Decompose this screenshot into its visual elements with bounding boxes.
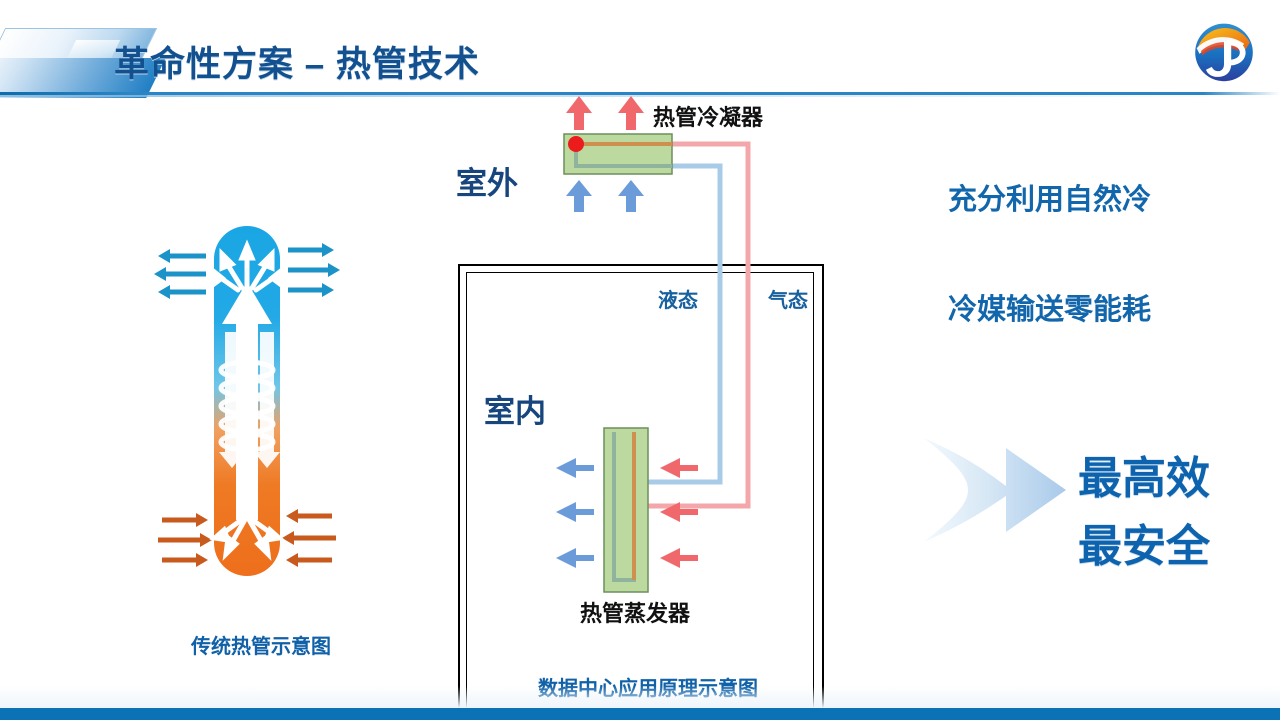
datacenter-principle-diagram: 热管冷凝器 室外 室内 液态 气态 热管蒸发器	[448, 88, 848, 688]
conclusion-most-safe: 最安全	[1078, 510, 1210, 574]
footer-bar	[0, 708, 1280, 720]
benefit-bullet-natural-cooling: 充分利用自然冷	[948, 176, 1151, 218]
outdoor-label: 室外	[456, 158, 518, 203]
evaporator-label: 热管蒸发器	[580, 596, 690, 628]
footer-glow	[0, 686, 1280, 708]
indoor-label: 室内	[484, 386, 546, 431]
slide-canvas: 革命性方案 – 热管技术	[0, 0, 1280, 720]
benefit-bullet-zero-energy: 冷媒输送零能耗	[948, 286, 1151, 328]
traditional-heat-pipe-illustration	[140, 220, 380, 620]
page-title: 革命性方案 – 热管技术	[114, 36, 480, 87]
liquid-phase-label: 液态	[658, 284, 698, 313]
right-pointing-arrow-icon	[920, 430, 1070, 550]
gas-phase-label: 气态	[768, 284, 808, 313]
jp-company-logo	[1188, 15, 1260, 87]
conclusion-most-efficient: 最高效	[1078, 442, 1210, 506]
condenser-label: 热管冷凝器	[653, 100, 763, 132]
traditional-diagram-caption: 传统热管示意图	[156, 630, 366, 659]
